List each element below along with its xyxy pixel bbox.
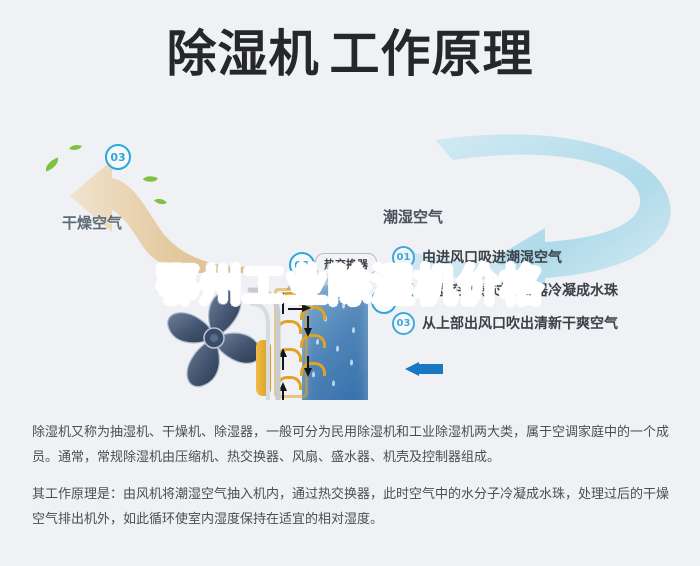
title-part-one: 除湿机 [167,25,320,83]
page-title: 除湿机工作原理 [0,26,700,82]
list-item: 01 由进风口吸进潮湿空气 [392,246,692,268]
step-badge-01: 01 [392,246,415,269]
infographic-page: 除湿机工作原理 干燥空气 03 [0,0,700,566]
step-list: 01 由进风口吸进潮湿空气 02 潮湿空气经过蒸发器冷凝成水珠 03 从上部出风… [392,246,692,345]
list-item: 03 从上部出风口吹出清新干爽空气 [392,312,692,334]
diagram-marker-03: 03 [105,144,131,170]
humid-air-label: 潮湿空气 [383,206,443,227]
step-text-01: 由进风口吸进潮湿空气 [422,247,562,267]
step-badge-03: 03 [392,312,415,335]
intake-arrow-icon [405,362,443,376]
step-text-02: 潮湿空气经过蒸发器冷凝成水珠 [422,280,618,300]
step-badge-02: 02 [392,279,415,302]
dehumidifier-unit: 水箱 [248,270,398,400]
step-text-03: 从上部出风口吹出清新干爽空气 [422,313,618,333]
suction-pipe [244,276,294,400]
title-part-two: 工作原理 [330,25,534,83]
paragraph-one: 除湿机又称为抽湿机、干燥机、除湿器，一般可分为民用除湿机和工业除湿机两大类，属于… [32,420,672,470]
paragraph-two: 其工作原理是：由风机将潮湿空气抽入机内，通过热交换器，此时空气中的水分子冷凝成水… [32,482,672,532]
body-copy: 除湿机又称为抽湿机、干燥机、除湿器，一般可分为民用除湿机和工业除湿机两大类，属于… [32,420,672,544]
dry-air-label: 干燥空气 [62,212,122,233]
list-item: 02 潮湿空气经过蒸发器冷凝成水珠 [392,279,692,301]
